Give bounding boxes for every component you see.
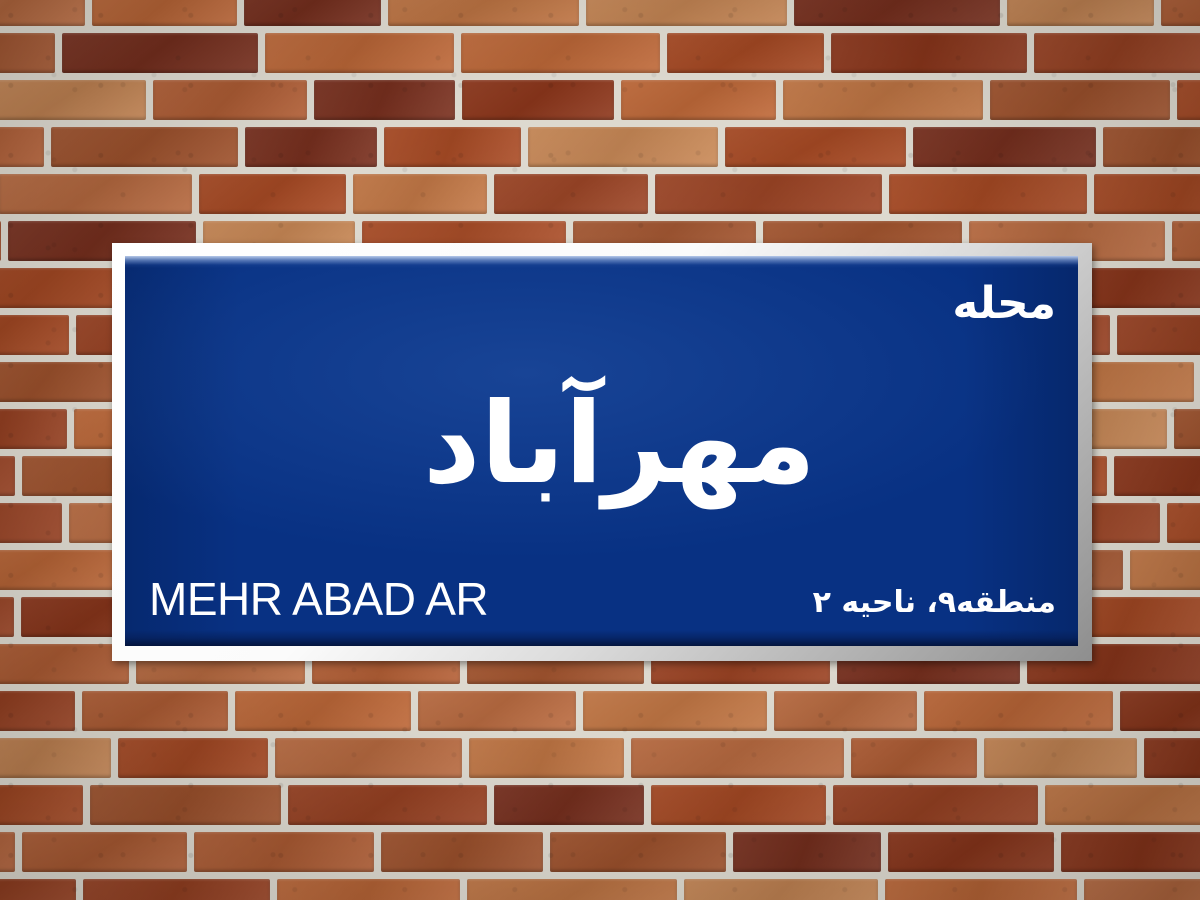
brick	[655, 174, 882, 214]
brick	[388, 0, 579, 26]
brick	[888, 832, 1054, 872]
brick	[277, 879, 460, 900]
brick	[833, 785, 1038, 825]
brick	[0, 80, 146, 120]
brick	[1094, 174, 1200, 214]
brick	[1120, 691, 1200, 731]
brick-row	[0, 832, 1200, 872]
brick	[0, 879, 76, 900]
brick	[851, 738, 977, 778]
brick	[1061, 832, 1200, 872]
brick	[0, 221, 1, 261]
brick	[0, 127, 44, 167]
brick	[725, 127, 906, 167]
brick	[0, 33, 55, 73]
brick	[1144, 738, 1200, 778]
brick	[1161, 0, 1200, 26]
brick	[353, 174, 487, 214]
sign-frame: محله مهرآباد MEHR ABAD AR منطقه۹، ناحیه …	[112, 243, 1092, 661]
brick	[0, 550, 114, 590]
brick	[1174, 409, 1200, 449]
brick	[1103, 127, 1200, 167]
brick	[0, 174, 192, 214]
brick	[684, 879, 878, 900]
brick	[1172, 221, 1200, 261]
sign-panel: محله مهرآباد MEHR ABAD AR منطقه۹، ناحیه …	[125, 256, 1078, 646]
brick	[621, 80, 776, 120]
brick	[275, 738, 462, 778]
brick-row	[0, 785, 1200, 825]
brick	[990, 80, 1170, 120]
brick	[194, 832, 374, 872]
brick	[794, 0, 1000, 26]
brick	[199, 174, 346, 214]
brick	[0, 691, 75, 731]
brick	[1177, 80, 1200, 120]
brick	[667, 33, 824, 73]
brick	[0, 832, 15, 872]
sign-neighborhood-name-persian: مهرآباد	[143, 388, 1078, 500]
brick	[153, 80, 307, 120]
brick	[1007, 0, 1154, 26]
brick	[467, 879, 677, 900]
brick	[0, 315, 69, 355]
brick-row	[0, 0, 1200, 26]
brick	[1114, 456, 1200, 496]
brick	[461, 33, 660, 73]
brick	[651, 785, 826, 825]
brick	[528, 127, 718, 167]
brick-row	[0, 127, 1200, 167]
brick	[83, 879, 270, 900]
brick	[22, 832, 187, 872]
brick	[984, 738, 1137, 778]
brick	[288, 785, 487, 825]
brick	[586, 0, 787, 26]
brick	[889, 174, 1087, 214]
sign-kicker-label: محله	[952, 282, 1056, 326]
brick	[583, 691, 767, 731]
brick	[885, 879, 1077, 900]
brick	[51, 127, 238, 167]
brick-row	[0, 174, 1200, 214]
brick	[0, 785, 83, 825]
brick	[550, 832, 726, 872]
brick	[314, 80, 455, 120]
brick	[0, 456, 15, 496]
brick	[469, 738, 624, 778]
brick	[235, 691, 411, 731]
brick	[0, 738, 111, 778]
brick	[245, 127, 377, 167]
brick	[384, 127, 521, 167]
brick	[462, 80, 614, 120]
brick	[265, 33, 454, 73]
brick-row	[0, 691, 1200, 731]
brick-row	[0, 879, 1200, 900]
brick	[118, 738, 268, 778]
brick-row	[0, 80, 1200, 120]
brick	[1045, 785, 1200, 825]
brick	[92, 0, 237, 26]
brick	[494, 785, 644, 825]
brick	[0, 0, 85, 26]
brick	[0, 362, 130, 402]
brick	[774, 691, 917, 731]
street-sign-scene: محله مهرآباد MEHR ABAD AR منطقه۹، ناحیه …	[0, 0, 1200, 900]
brick	[418, 691, 576, 731]
brick	[0, 597, 14, 637]
brick	[1117, 315, 1200, 355]
brick	[1167, 503, 1200, 543]
brick	[494, 174, 648, 214]
brick	[913, 127, 1096, 167]
brick	[90, 785, 281, 825]
brick	[244, 0, 381, 26]
brick	[733, 832, 881, 872]
brick	[1034, 33, 1200, 73]
brick	[831, 33, 1027, 73]
brick	[783, 80, 983, 120]
sign-neighborhood-name-latin: MEHR ABAD AR	[149, 576, 488, 622]
brick	[631, 738, 844, 778]
brick	[381, 832, 543, 872]
brick	[924, 691, 1113, 731]
brick	[0, 409, 67, 449]
brick	[0, 503, 62, 543]
brick	[1084, 879, 1200, 900]
sign-district-label: منطقه۹، ناحیه ۲	[813, 588, 1056, 618]
brick	[0, 644, 129, 684]
brick-row	[0, 33, 1200, 73]
brick-row	[0, 738, 1200, 778]
brick	[62, 33, 258, 73]
brick	[1130, 550, 1200, 590]
brick	[82, 691, 228, 731]
